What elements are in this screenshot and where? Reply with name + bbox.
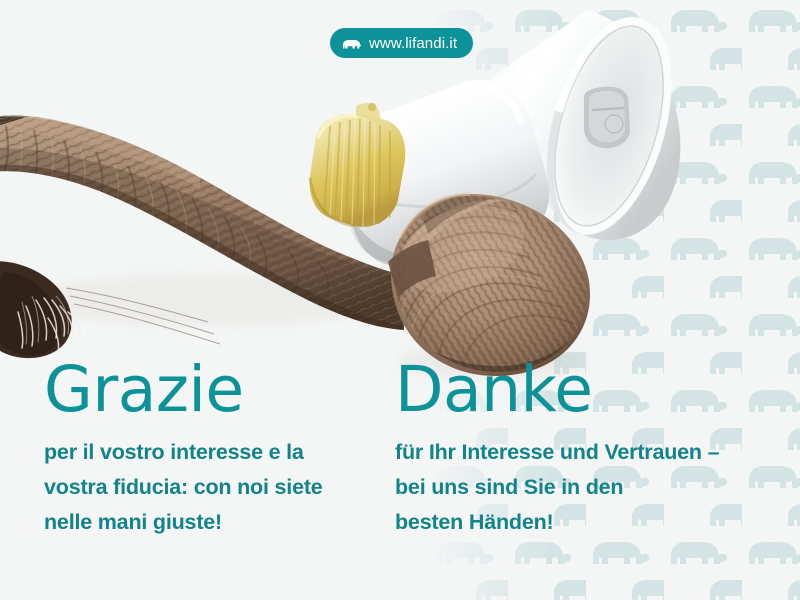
german-body-text: für Ihr Interesse und Vertrauen – bei un… [395, 435, 785, 540]
italian-body-line-3: nelle mani giuste! [44, 505, 374, 540]
italian-headline: Grazie [44, 355, 374, 425]
german-body-line-3: besten Händen! [395, 505, 785, 540]
italian-body-text: per il vostro interesse e la vostra fidu… [44, 435, 374, 540]
url-badge[interactable]: www.lifandi.it [330, 28, 473, 58]
german-body-line-2: bei uns sind Sie in den [395, 470, 785, 505]
elephant-icon [342, 36, 361, 51]
german-text-column: Danke für Ihr Interesse und Vertrauen – … [395, 355, 785, 540]
italian-body-line-1: per il vostro interesse e la [44, 435, 374, 470]
url-badge-text: www.lifandi.it [369, 35, 457, 52]
italian-body-line-2: vostra fiducia: con noi siete [44, 470, 374, 505]
italian-text-column: Grazie per il vostro interesse e la vost… [44, 355, 374, 540]
megaphone-horn-clip [584, 86, 630, 148]
german-body-line-1: für Ihr Interesse und Vertrauen – [395, 435, 785, 470]
elephant-and-megaphone-illustration [0, 0, 700, 390]
german-headline: Danke [395, 355, 785, 425]
banner-canvas: www.lifandi.it Grazie per il vostro inte… [0, 0, 800, 600]
